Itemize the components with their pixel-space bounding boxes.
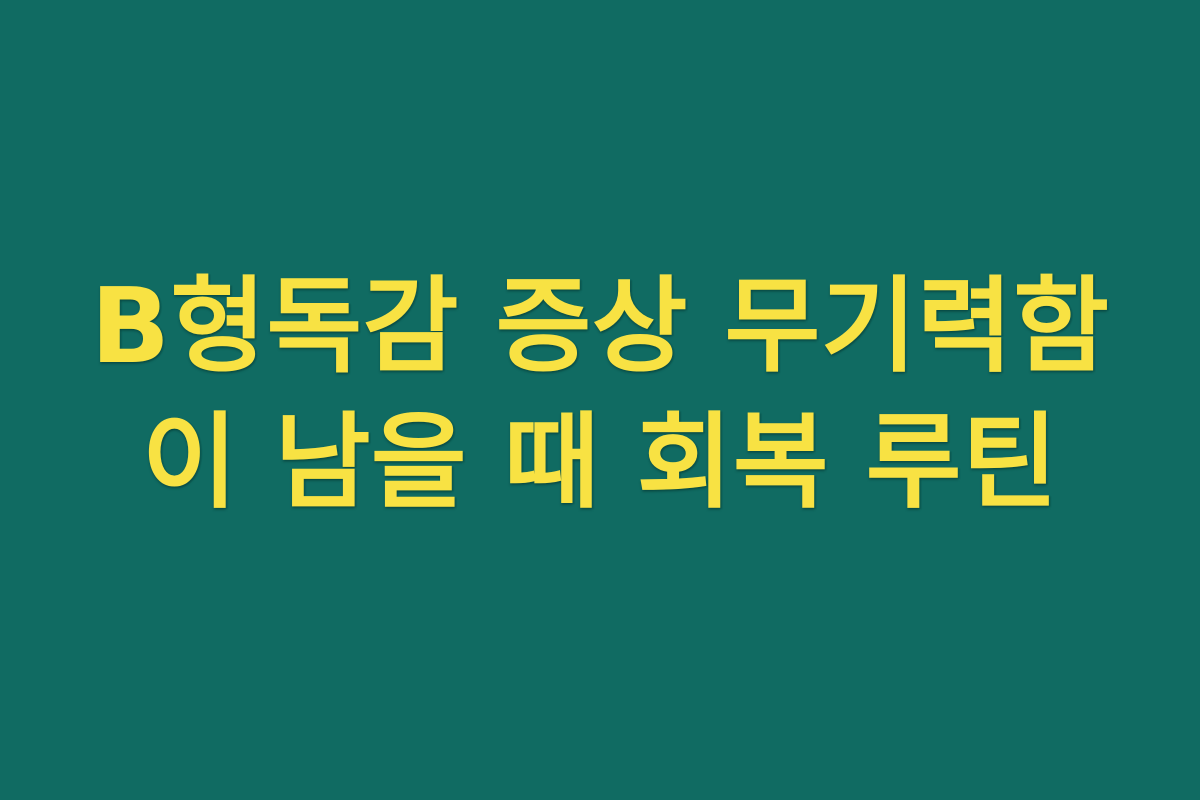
title-text-block: B형독감 증상 무기력함 이 남을 때 회복 루틴 xyxy=(80,258,1120,530)
title-line-2: 이 남을 때 회복 루틴 xyxy=(80,394,1120,530)
title-line-1: B형독감 증상 무기력함 xyxy=(80,258,1120,394)
thumbnail-canvas: B형독감 증상 무기력함 이 남을 때 회복 루틴 xyxy=(0,0,1200,800)
